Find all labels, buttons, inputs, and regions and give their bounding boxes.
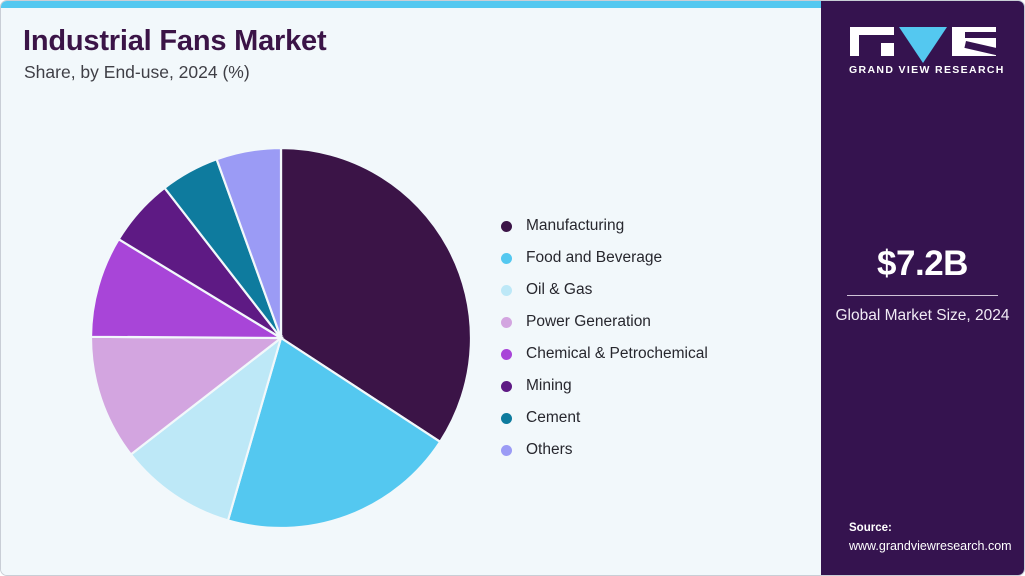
legend-color-swatch-icon [501,253,512,264]
legend-item[interactable]: Manufacturing [501,210,801,242]
stat-divider [847,295,998,296]
source-title: Source: [849,519,1012,537]
market-size-label: Global Market Size, 2024 [833,305,1012,327]
legend-color-swatch-icon [501,381,512,392]
legend-item-label: Others [526,441,573,459]
page-title: Industrial Fans Market [23,25,326,58]
legend-item[interactable]: Power Generation [501,306,801,338]
source-block: Source: www.grandviewresearch.com [849,519,1012,555]
legend-item-label: Manufacturing [526,217,624,235]
legend-color-swatch-icon [501,317,512,328]
market-size-stat: $7.2B Global Market Size, 2024 [833,244,1012,327]
logo-r-icon [952,27,996,56]
legend-item-label: Food and Beverage [526,249,662,267]
legend-item-label: Chemical & Petrochemical [526,345,708,363]
legend-item[interactable]: Cement [501,402,801,434]
legend-color-swatch-icon [501,221,512,232]
pie-chart-svg [81,138,481,538]
logo-wordmark: GRAND VIEW RESEARCH [849,64,997,76]
legend-item[interactable]: Food and Beverage [501,242,801,274]
grand-view-research-logo: GRAND VIEW RESEARCH [849,27,997,76]
legend-item-label: Oil & Gas [526,281,592,299]
page-subtitle: Share, by End-use, 2024 (%) [24,62,250,83]
logo-v-triangle-icon [899,27,947,63]
legend-color-swatch-icon [501,445,512,456]
pie-chart [81,138,481,538]
chart-legend: ManufacturingFood and BeverageOil & GasP… [501,210,801,466]
pie-slice-group [91,148,471,528]
legend-item-label: Cement [526,409,580,427]
legend-color-swatch-icon [501,413,512,424]
legend-item[interactable]: Oil & Gas [501,274,801,306]
legend-item[interactable]: Chemical & Petrochemical [501,338,801,370]
legend-item-label: Power Generation [526,313,651,331]
legend-color-swatch-icon [501,349,512,360]
infographic-card: Industrial Fans Market Share, by End-use… [0,0,1025,576]
brand-panel: GRAND VIEW RESEARCH $7.2B Global Market … [821,1,1024,576]
chart-panel: Industrial Fans Market Share, by End-use… [1,8,823,576]
logo-g-icon [850,27,894,56]
market-size-value: $7.2B [833,244,1012,284]
legend-item-label: Mining [526,377,572,395]
source-url: www.grandviewresearch.com [849,537,1012,555]
logo-marks [849,27,997,56]
legend-item[interactable]: Others [501,434,801,466]
legend-item[interactable]: Mining [501,370,801,402]
legend-color-swatch-icon [501,285,512,296]
